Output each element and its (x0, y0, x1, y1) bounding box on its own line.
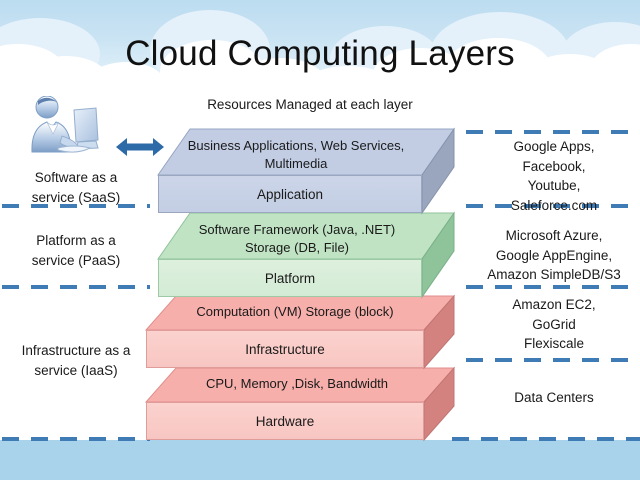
left-label-paas-line1: Platform as a (2, 231, 150, 251)
divider-dash (466, 130, 640, 134)
slide-canvas: Cloud Computing Layers Resources Managed… (0, 0, 640, 480)
right-label-line: Data Centers (468, 388, 640, 408)
divider-dash (466, 358, 640, 362)
person-at-computer-icon (18, 96, 116, 158)
left-label-iaas: Infrastructure as a service (IaaS) (2, 341, 150, 380)
application-front-label: Application (158, 175, 422, 213)
left-label-saas-line1: Software as a (2, 168, 150, 188)
hardware-front-label: Hardware (146, 402, 424, 440)
divider-dash (466, 285, 640, 289)
right-label-line: Microsoft Azure, (468, 226, 640, 246)
right-label-line: Facebook, (468, 157, 640, 177)
layer-hardware[interactable]: CPU, Memory ,Disk, Bandwidth Hardware (146, 368, 454, 440)
right-label-line: Google AppEngine, (468, 246, 640, 266)
subtitle: Resources Managed at each layer (150, 97, 470, 112)
right-label-saas-examples: Google Apps, Facebook, Youtube, Saleforc… (468, 137, 640, 215)
right-label-paas-examples: Microsoft Azure, Google AppEngine, Amazo… (468, 226, 640, 285)
layer-application[interactable]: Business Applications, Web Services, Mul… (158, 129, 454, 213)
page-title: Cloud Computing Layers (0, 34, 640, 74)
left-label-paas-line2: service (PaaS) (2, 251, 150, 271)
bidirectional-arrow-icon (116, 136, 164, 158)
layer-platform[interactable]: Software Framework (Java, .NET) Storage … (158, 213, 454, 297)
right-label-line: Flexiscale (468, 334, 640, 354)
cloud-base (0, 80, 640, 92)
right-label-line: Youtube, (468, 176, 640, 196)
right-label-line: Google Apps, (468, 137, 640, 157)
left-label-saas-line2: service (SaaS) (2, 188, 150, 208)
divider-dash (2, 437, 150, 441)
left-label-iaas-line1: Infrastructure as a (2, 341, 150, 361)
left-label-paas: Platform as a service (PaaS) (2, 231, 150, 270)
right-label-line: Amazon SimpleDB/S3 (468, 265, 640, 285)
left-label-saas: Software as a service (SaaS) (2, 168, 150, 207)
right-label-iaas-examples: Amazon EC2, GoGrid Flexiscale (468, 295, 640, 354)
platform-front-label: Platform (158, 259, 422, 297)
right-label-line: GoGrid (468, 315, 640, 335)
divider-dash (2, 285, 150, 289)
right-label-line: Saleforce.com (468, 196, 640, 216)
bottom-band (0, 440, 640, 480)
divider-dash (452, 437, 640, 441)
right-label-line: Amazon EC2, (468, 295, 640, 315)
infrastructure-front-label: Infrastructure (146, 330, 424, 368)
layer-infrastructure[interactable]: Computation (VM) Storage (block) Infrast… (146, 296, 454, 368)
right-label-hardware-examples: Data Centers (468, 388, 640, 408)
left-label-iaas-line2: service (IaaS) (2, 361, 150, 381)
